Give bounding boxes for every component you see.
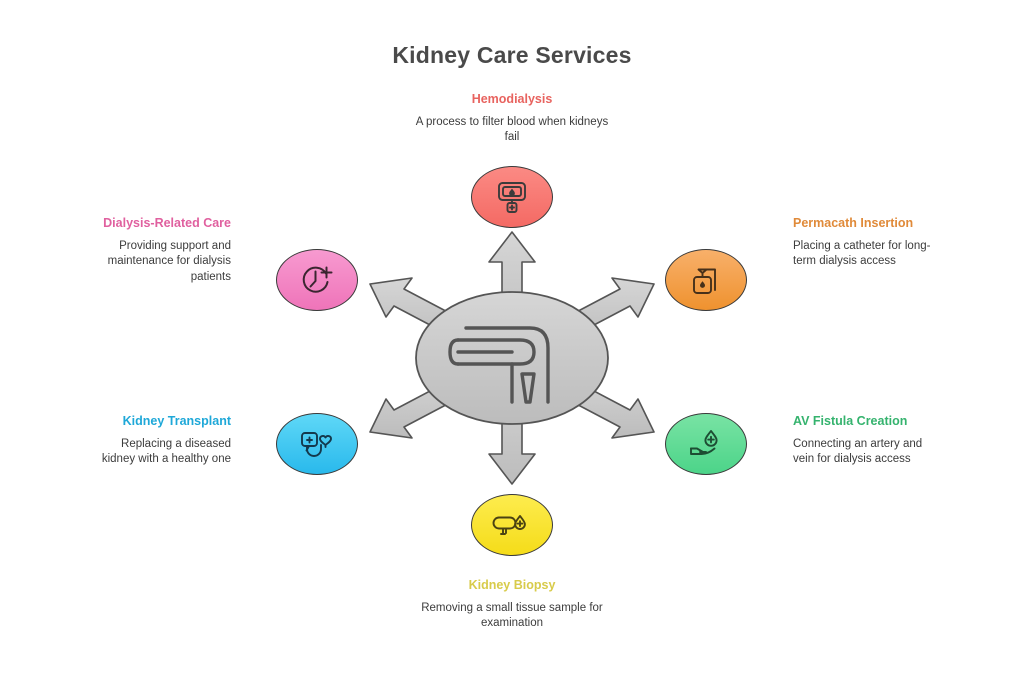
service-icon-av-fistula-creation[interactable] <box>665 413 747 475</box>
service-title-av-fistula-creation: AV Fistula Creation <box>793 414 933 430</box>
service-icon-kidney-transplant[interactable] <box>276 413 358 475</box>
service-icon-kidney-biopsy[interactable] <box>471 494 553 556</box>
service-label-av-fistula-creation: AV Fistula Creation Connecting an artery… <box>793 414 933 468</box>
service-label-kidney-biopsy: Kidney Biopsy Removing a small tissue sa… <box>412 578 612 632</box>
service-description-av-fistula-creation: Connecting an artery and vein for dialys… <box>793 437 933 469</box>
iv-catheter-bag-icon <box>686 260 726 300</box>
service-title-kidney-transplant: Kidney Transplant <box>91 414 231 430</box>
service-label-permacath-insertion: Permacath Insertion Placing a catheter f… <box>793 216 933 270</box>
service-description-dialysis-related-care: Providing support and maintenance for di… <box>91 239 231 286</box>
biopsy-sample-icon <box>492 505 532 545</box>
center-hub-ellipse <box>416 292 608 424</box>
service-title-permacath-insertion: Permacath Insertion <box>793 216 933 232</box>
page-title: Kidney Care Services <box>0 42 1024 69</box>
service-title-hemodialysis: Hemodialysis <box>412 92 612 108</box>
dialysis-machine-icon <box>492 177 532 217</box>
infographic-canvas: Kidney Care Services <box>0 0 1024 683</box>
service-icon-permacath-insertion[interactable] <box>665 249 747 311</box>
service-icon-dialysis-related-care[interactable] <box>276 249 358 311</box>
service-title-dialysis-related-care: Dialysis-Related Care <box>91 216 231 232</box>
stethoscope-heart-icon <box>297 424 337 464</box>
clock-plus-icon <box>297 260 337 300</box>
service-label-dialysis-related-care: Dialysis-Related Care Providing support … <box>91 216 231 286</box>
service-title-kidney-biopsy: Kidney Biopsy <box>412 578 612 594</box>
service-description-kidney-transplant: Replacing a diseased kidney with a healt… <box>91 437 231 469</box>
service-label-hemodialysis: Hemodialysis A process to filter blood w… <box>412 92 612 146</box>
service-description-hemodialysis: A process to filter blood when kidneys f… <box>412 115 612 147</box>
hand-blood-drop-icon <box>686 424 726 464</box>
service-label-kidney-transplant: Kidney Transplant Replacing a diseased k… <box>91 414 231 468</box>
service-icon-hemodialysis[interactable] <box>471 166 553 228</box>
hub-diagram <box>362 228 662 488</box>
service-description-kidney-biopsy: Removing a small tissue sample for exami… <box>412 601 612 633</box>
service-description-permacath-insertion: Placing a catheter for long-term dialysi… <box>793 239 933 271</box>
